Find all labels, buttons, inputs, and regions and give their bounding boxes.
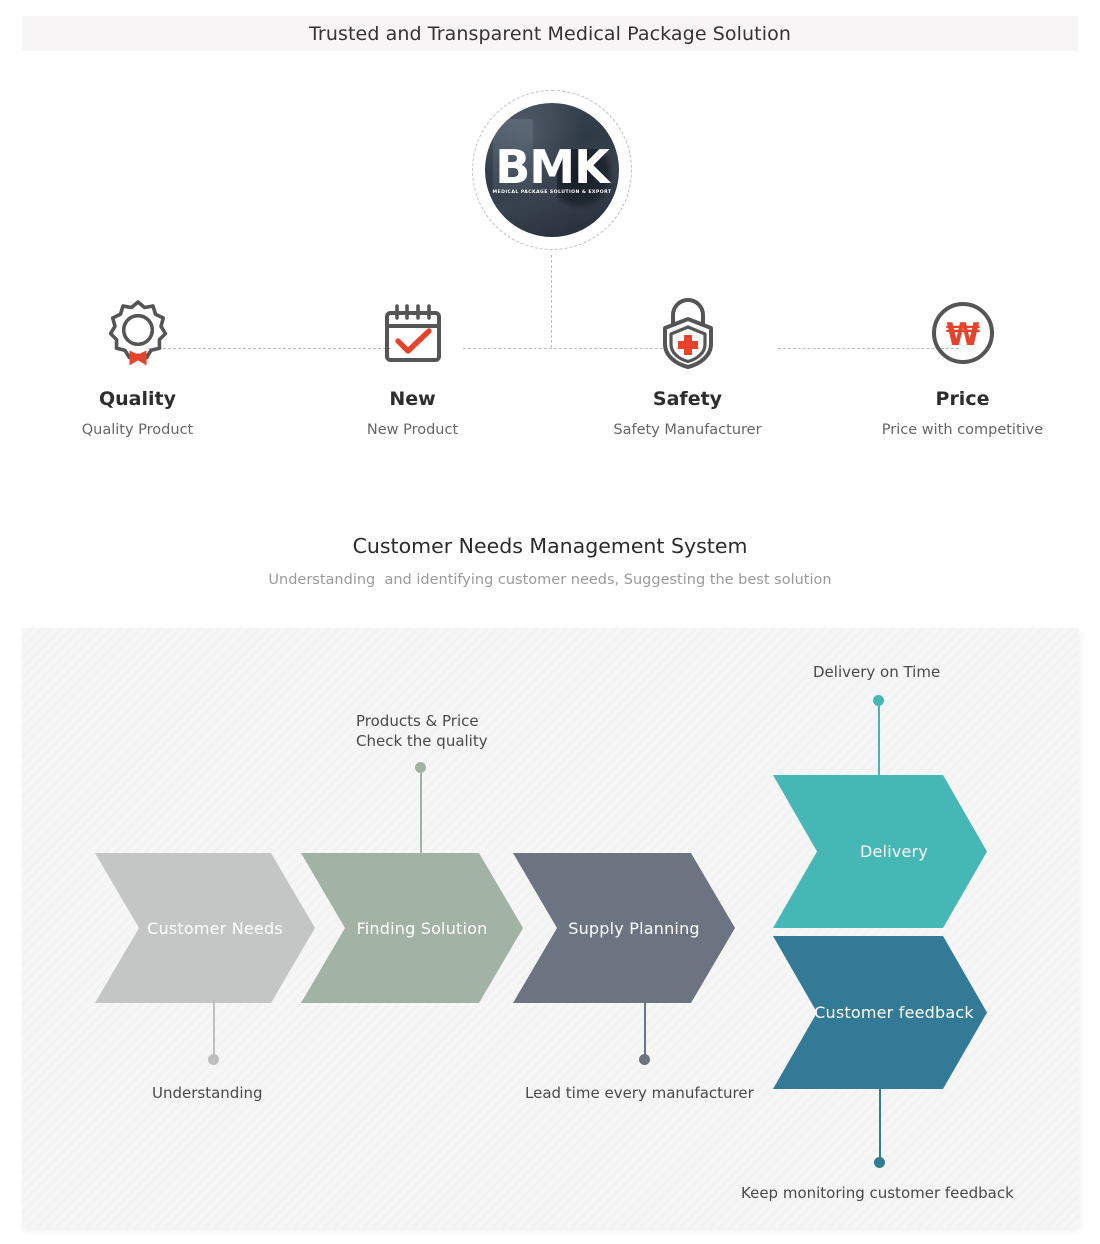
annotation-label: Products & Price Check the quality — [356, 711, 488, 751]
section-subtitle: Understanding and identifying customer n… — [0, 572, 1100, 588]
feature-title: Quality — [99, 388, 176, 410]
annotation-label: Lead time every manufacturer — [525, 1083, 754, 1103]
annotation-line — [213, 1000, 215, 1060]
process-step-label: Customer feedback — [814, 1003, 974, 1022]
process-step-label: Finding Solution — [357, 919, 488, 938]
process-step-label: Supply Planning — [568, 919, 700, 938]
feature-title: Safety — [653, 388, 722, 410]
shield-lock-cross-icon — [657, 296, 719, 370]
annotation-dot — [873, 695, 884, 706]
annotation-line — [644, 1000, 646, 1060]
svg-text:₩: ₩ — [945, 317, 979, 353]
quality-badge-icon — [107, 296, 169, 370]
feature-item-new: New New Product — [275, 296, 550, 456]
annotation-label: Understanding — [152, 1083, 263, 1103]
process-step-label: Delivery — [860, 842, 928, 861]
feature-row: Quality Quality Product New New Product — [0, 296, 1100, 456]
feature-subtitle: Quality Product — [82, 422, 193, 438]
annotation-line — [879, 1086, 881, 1162]
feature-subtitle: Safety Manufacturer — [613, 422, 761, 438]
annotation-line — [878, 705, 880, 779]
company-logo: BMK MEDICAL PACKAGE SOLUTION & EXPORT — [472, 90, 632, 250]
won-currency-icon: ₩ — [930, 296, 996, 370]
section-heading: Customer Needs Management System Underst… — [0, 534, 1100, 588]
annotation-dot — [415, 762, 426, 773]
annotation-dot — [639, 1054, 650, 1065]
annotation-label: Keep monitoring customer feedback — [741, 1183, 1014, 1203]
logo-text-block: BMK MEDICAL PACKAGE SOLUTION & EXPORT — [485, 145, 619, 195]
page-header-bar: Trusted and Transparent Medical Package … — [22, 16, 1078, 51]
quality-badge-icon-svg — [107, 298, 169, 368]
logo-photo-backdrop: BMK MEDICAL PACKAGE SOLUTION & EXPORT — [485, 103, 619, 237]
feature-title: Price — [936, 388, 990, 410]
feature-subtitle: Price with competitive — [882, 422, 1043, 438]
calendar-check-icon — [380, 296, 446, 370]
annotation-line — [420, 773, 422, 857]
feature-item-safety: Safety Safety Manufacturer — [550, 296, 825, 456]
annotation-dot — [208, 1054, 219, 1065]
calendar-check-icon-svg — [380, 300, 446, 366]
process-step-label: Customer Needs — [147, 919, 283, 938]
annotation-dot — [874, 1157, 885, 1168]
annotation-label: Delivery on Time — [813, 662, 940, 682]
feature-subtitle: New Product — [367, 422, 458, 438]
logo-brand-name: BMK — [485, 145, 619, 189]
logo-tagline: MEDICAL PACKAGE SOLUTION & EXPORT — [485, 190, 619, 195]
won-currency-icon-svg: ₩ — [930, 300, 996, 366]
page-title: Trusted and Transparent Medical Package … — [309, 23, 791, 45]
feature-title: New — [389, 388, 435, 410]
feature-item-quality: Quality Quality Product — [0, 296, 275, 456]
section-title: Customer Needs Management System — [0, 534, 1100, 558]
shield-lock-cross-icon-svg — [657, 297, 719, 369]
feature-item-price: ₩ Price Price with competitive — [825, 296, 1100, 456]
